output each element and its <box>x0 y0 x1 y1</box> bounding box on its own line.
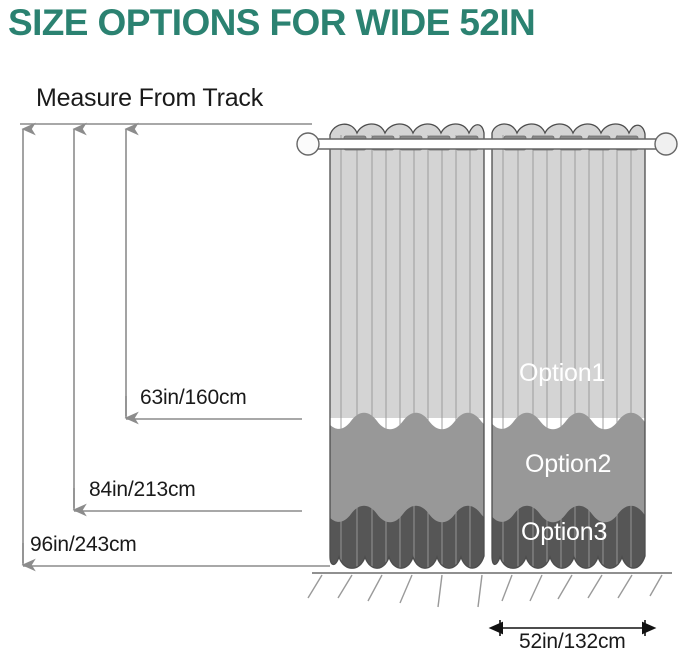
dimension-label-option1: 63in/160cm <box>140 386 247 410</box>
diagram-graphics <box>0 0 679 660</box>
floor <box>308 573 672 607</box>
dimension-label-option2: 84in/213cm <box>89 478 196 502</box>
curtain-option-label-1: Option1 <box>519 359 605 388</box>
size-options-diagram: SIZE OPTIONS FOR WIDE 52IN Measure From … <box>0 0 679 660</box>
curtain-option-label-2: Option2 <box>525 450 611 479</box>
curtain-option-label-3: Option3 <box>521 518 607 547</box>
curtain-panel-right <box>488 118 653 580</box>
dimension-label-width: 52in/132cm <box>519 630 626 654</box>
dimension-label-option3: 96in/243cm <box>30 533 137 557</box>
curtain-panel-left <box>325 118 490 580</box>
